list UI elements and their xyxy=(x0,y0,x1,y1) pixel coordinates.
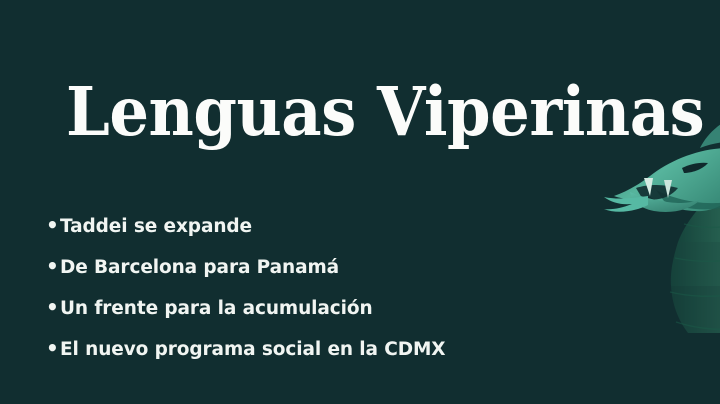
snake-head-shadow xyxy=(656,190,720,209)
list-item: • Un frente para la acumulación xyxy=(46,287,445,328)
bullet-dot-icon: • xyxy=(46,205,60,246)
list-item: • Taddei se expande xyxy=(46,205,445,246)
snake-tongue xyxy=(604,196,648,212)
presentation-slide: Lenguas Viperinas • Taddei se expande • … xyxy=(0,0,720,404)
page-title: Lenguas Viperinas xyxy=(66,78,704,145)
list-item-label: El nuevo programa social en la CDMX xyxy=(60,329,445,370)
snake-illustration xyxy=(560,0,720,404)
bullet-dot-icon: • xyxy=(46,328,60,369)
snake-mouth xyxy=(636,185,678,200)
bullet-dot-icon: • xyxy=(46,246,60,287)
list-item: • De Barcelona para Panamá xyxy=(46,246,445,287)
snake-body-lines xyxy=(670,224,720,329)
list-item-label: De Barcelona para Panamá xyxy=(60,247,339,288)
snake-head xyxy=(614,148,720,211)
snake-body-scales xyxy=(671,188,720,333)
list-item-label: Un frente para la acumulación xyxy=(60,288,373,329)
snake-group xyxy=(604,120,720,333)
bullet-dot-icon: • xyxy=(46,287,60,328)
list-item-label: Taddei se expande xyxy=(60,206,252,247)
snake-eye xyxy=(682,163,708,173)
snake-lower-jaw xyxy=(630,192,700,212)
snake-fang-right xyxy=(664,180,672,198)
snake-fang-left xyxy=(644,178,653,196)
bullet-list: • Taddei se expande • De Barcelona para … xyxy=(46,205,445,369)
list-item: • El nuevo programa social en la CDMX xyxy=(46,328,445,369)
